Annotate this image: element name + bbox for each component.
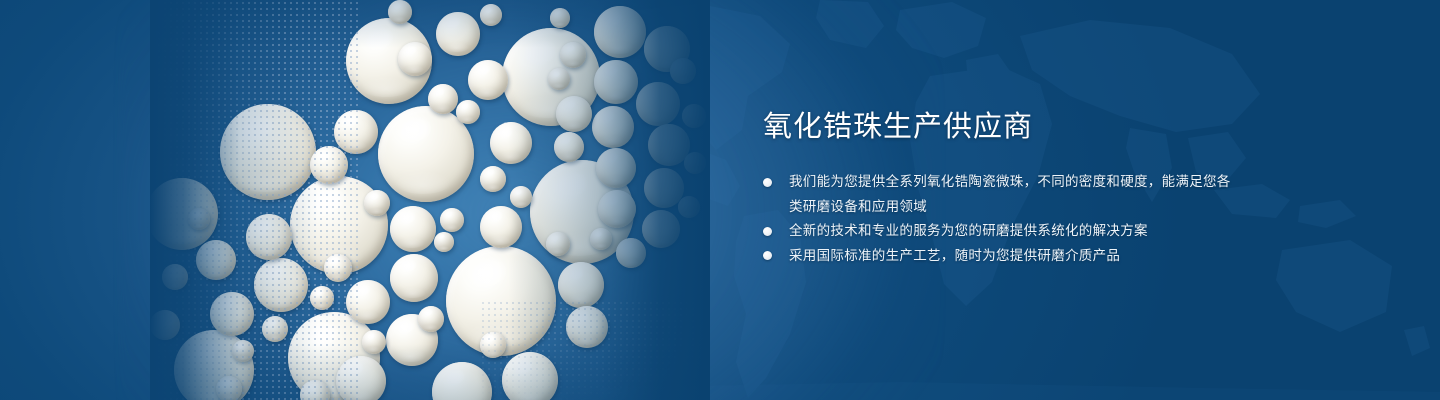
bead xyxy=(510,186,532,208)
bead-cluster xyxy=(150,0,710,400)
bead xyxy=(556,96,592,132)
bead xyxy=(188,208,210,230)
bead xyxy=(440,208,464,232)
bead xyxy=(334,110,378,154)
bead xyxy=(436,12,480,56)
bead xyxy=(616,238,646,268)
bead xyxy=(594,6,646,58)
bead xyxy=(480,332,506,358)
bead xyxy=(642,210,680,248)
bead xyxy=(210,292,254,336)
bead xyxy=(594,60,638,104)
bead xyxy=(324,254,352,282)
list-item: 全新的技术和专业的服务为您的研磨提供系统化的解决方案 xyxy=(763,219,1233,244)
bead xyxy=(684,152,706,174)
bead xyxy=(546,232,570,256)
bead xyxy=(670,58,696,84)
bead xyxy=(598,190,636,228)
bead xyxy=(480,206,522,248)
bead xyxy=(246,214,292,260)
bead xyxy=(432,362,492,400)
bead xyxy=(502,352,558,400)
bead xyxy=(468,60,508,100)
bead xyxy=(480,4,502,26)
bead xyxy=(364,190,390,216)
bead xyxy=(480,166,506,192)
bead xyxy=(558,262,604,308)
bead xyxy=(550,8,570,28)
bead xyxy=(592,106,634,148)
bead xyxy=(682,104,706,128)
bead xyxy=(560,42,586,68)
bead xyxy=(310,286,334,310)
bead xyxy=(678,196,700,218)
hero-banner: 氧化锆珠生产供应商 我们能为您提供全系列氧化锆陶瓷微珠，不同的密度和硬度，能满足… xyxy=(0,0,1440,400)
bead xyxy=(390,206,436,252)
bead xyxy=(220,104,316,200)
bead xyxy=(418,306,444,332)
bead xyxy=(362,330,386,354)
bead xyxy=(254,258,308,312)
bead xyxy=(232,340,254,362)
list-item: 我们能为您提供全系列氧化锆陶瓷微珠，不同的密度和硬度，能满足您各类研磨设备和应用… xyxy=(763,170,1233,219)
bullet-text: 采用国际标准的生产工艺，随时为您提供研磨介质产品 xyxy=(789,248,1120,263)
banner-copy: 氧化锆珠生产供应商 我们能为您提供全系列氧化锆陶瓷微珠，不同的密度和硬度，能满足… xyxy=(763,108,1233,268)
bead xyxy=(216,376,242,400)
bead xyxy=(548,68,570,90)
banner-headline: 氧化锆珠生产供应商 xyxy=(763,108,1233,146)
bullet-dot-icon xyxy=(763,227,772,236)
bullet-dot-icon xyxy=(763,178,772,187)
bead xyxy=(388,0,412,24)
bead xyxy=(196,240,236,280)
bead xyxy=(390,254,438,302)
bead xyxy=(554,132,584,162)
bead xyxy=(456,100,480,124)
bead xyxy=(590,228,612,250)
bead xyxy=(434,232,454,252)
bullet-text: 我们能为您提供全系列氧化锆陶瓷微珠，不同的密度和硬度，能满足您各类研磨设备和应用… xyxy=(789,174,1231,214)
bead xyxy=(346,280,390,324)
bead xyxy=(262,316,288,342)
bead xyxy=(636,82,680,126)
bead xyxy=(566,306,608,348)
bead xyxy=(596,148,636,188)
list-item: 采用国际标准的生产工艺，随时为您提供研磨介质产品 xyxy=(763,244,1233,269)
bead xyxy=(150,310,180,340)
bead xyxy=(490,122,532,164)
bead xyxy=(428,84,458,114)
bead xyxy=(162,264,188,290)
banner-bullet-list: 我们能为您提供全系列氧化锆陶瓷微珠，不同的密度和硬度，能满足您各类研磨设备和应用… xyxy=(763,170,1233,268)
bead xyxy=(336,356,386,400)
bullet-text: 全新的技术和专业的服务为您的研磨提供系统化的解决方案 xyxy=(789,223,1148,238)
bead xyxy=(310,146,348,184)
bead xyxy=(398,42,432,76)
bullet-dot-icon xyxy=(763,251,772,260)
zirconia-beads-photo xyxy=(150,0,710,400)
